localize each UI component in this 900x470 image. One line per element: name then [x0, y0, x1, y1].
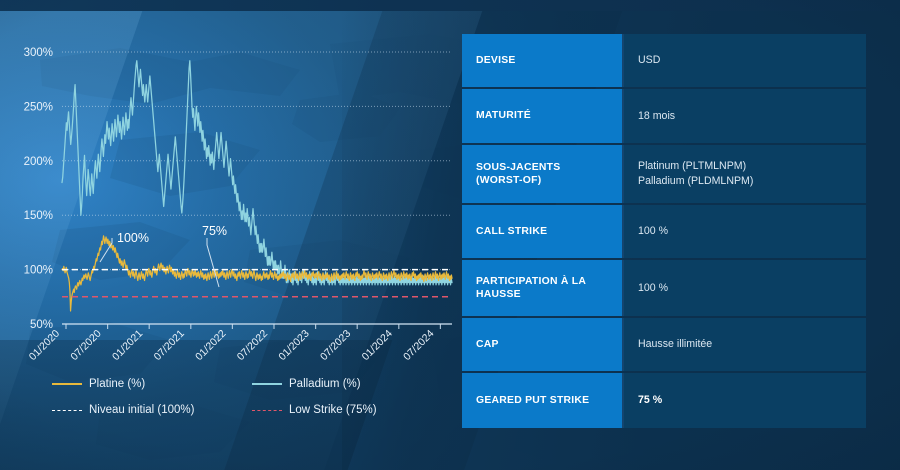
- series-line-palladium: [62, 61, 452, 285]
- legend-label-platine: Platine (%): [89, 378, 145, 390]
- spec-value-sous-jacents: Platinum (PLTMLNPM) Palladium (PLDMLNPM): [622, 145, 866, 203]
- chart-canvas: 50%100%150%200%250%300%01/202007/202001/…: [0, 0, 460, 380]
- annotation-label-75: 75%: [202, 224, 227, 238]
- spec-label-participation-line2: HAUSSE: [476, 288, 622, 301]
- spec-label-devise: DEVISE: [462, 34, 622, 87]
- legend-swatch-low-strike: [252, 410, 282, 411]
- legend-swatch-platine: [52, 383, 82, 385]
- legend-item-palladium: Palladium (%): [252, 378, 442, 390]
- spec-label-cap: CAP: [462, 318, 622, 371]
- annotation-label-100: 100%: [117, 231, 149, 245]
- y-axis-tick-label: 200%: [24, 156, 53, 168]
- series-line-platine: [62, 236, 452, 311]
- x-axis-tick-label: 07/2024: [401, 328, 436, 363]
- svg-text:07/2023: 07/2023: [318, 328, 353, 363]
- spec-value-sous-jacents-line1: Platinum (PLTMLNPM): [638, 159, 866, 174]
- table-row: MATURITÉ 18 mois: [462, 89, 866, 143]
- spec-value-participation: 100 %: [622, 260, 866, 316]
- spec-value-devise: USD: [622, 34, 866, 87]
- legend-label-low-strike: Low Strike (75%): [289, 404, 377, 416]
- page-root: 50%100%150%200%250%300%01/202007/202001/…: [0, 0, 900, 470]
- svg-text:01/2024: 01/2024: [360, 328, 395, 363]
- chart-legend: Platine (%) Palladium (%) Niveau initial…: [52, 378, 442, 416]
- spec-value-call-strike: 100 %: [622, 205, 866, 258]
- spec-label-geared-put-strike: GEARED PUT STRIKE: [462, 373, 622, 428]
- spec-label-maturite: MATURITÉ: [462, 89, 622, 143]
- x-axis-tick-label: 01/2023: [276, 328, 311, 363]
- legend-item-low-strike: Low Strike (75%): [252, 404, 442, 416]
- legend-swatch-niveau-initial: [52, 410, 82, 411]
- table-row: GEARED PUT STRIKE 75 %: [462, 373, 866, 428]
- performance-chart: 50%100%150%200%250%300%01/202007/202001/…: [0, 0, 460, 470]
- x-axis-tick-label: 07/2020: [68, 328, 103, 363]
- svg-text:01/2020: 01/2020: [27, 328, 62, 363]
- spec-value-maturite: 18 mois: [622, 89, 866, 143]
- y-axis-tick-label: 250%: [24, 101, 53, 113]
- legend-label-niveau-initial: Niveau initial (100%): [89, 404, 194, 416]
- legend-label-palladium: Palladium (%): [289, 378, 361, 390]
- spec-label-sous-jacents-line2: (WORST-OF): [476, 174, 622, 187]
- legend-item-platine: Platine (%): [52, 378, 252, 390]
- spec-label-sous-jacents-line1: SOUS-JACENTS: [476, 161, 622, 174]
- x-axis-tick-label: 07/2023: [318, 328, 353, 363]
- x-axis-tick-label: 01/2024: [360, 328, 395, 363]
- svg-text:07/2022: 07/2022: [235, 328, 270, 363]
- table-row: CAP Hausse illimitée: [462, 318, 866, 371]
- svg-text:01/2022: 01/2022: [193, 328, 228, 363]
- legend-item-niveau-initial: Niveau initial (100%): [52, 404, 252, 416]
- x-axis-tick-label: 07/2022: [235, 328, 270, 363]
- x-axis-tick-label: 01/2020: [27, 328, 62, 363]
- spec-label-sous-jacents: SOUS-JACENTS (WORST-OF): [462, 145, 622, 203]
- spec-value-sous-jacents-line2: Palladium (PLDMLNPM): [638, 174, 866, 189]
- svg-text:01/2023: 01/2023: [276, 328, 311, 363]
- y-axis-tick-label: 300%: [24, 47, 53, 59]
- legend-swatch-palladium: [252, 383, 282, 385]
- svg-text:07/2020: 07/2020: [68, 328, 103, 363]
- svg-text:01/2021: 01/2021: [110, 328, 145, 363]
- svg-text:07/2024: 07/2024: [401, 328, 436, 363]
- y-axis-tick-label: 100%: [24, 265, 53, 277]
- spec-value-geared-put-strike: 75 %: [622, 373, 866, 428]
- spec-label-participation: PARTICIPATION À LA HAUSSE: [462, 260, 622, 316]
- svg-text:07/2021: 07/2021: [152, 328, 187, 363]
- product-spec-table: DEVISE USD MATURITÉ 18 mois SOUS-JACENTS…: [462, 32, 866, 430]
- table-row: DEVISE USD: [462, 34, 866, 87]
- x-axis-tick-label: 07/2021: [152, 328, 187, 363]
- y-axis-tick-label: 50%: [30, 319, 53, 331]
- x-axis-tick-label: 01/2021: [110, 328, 145, 363]
- table-row: CALL STRIKE 100 %: [462, 205, 866, 258]
- spec-label-participation-line1: PARTICIPATION À LA: [476, 275, 622, 288]
- x-axis-tick-label: 01/2022: [193, 328, 228, 363]
- y-axis-tick-label: 150%: [24, 210, 53, 222]
- spec-label-call-strike: CALL STRIKE: [462, 205, 622, 258]
- table-row: PARTICIPATION À LA HAUSSE 100 %: [462, 260, 866, 316]
- spec-value-cap: Hausse illimitée: [622, 318, 866, 371]
- table-row: SOUS-JACENTS (WORST-OF) Platinum (PLTMLN…: [462, 145, 866, 203]
